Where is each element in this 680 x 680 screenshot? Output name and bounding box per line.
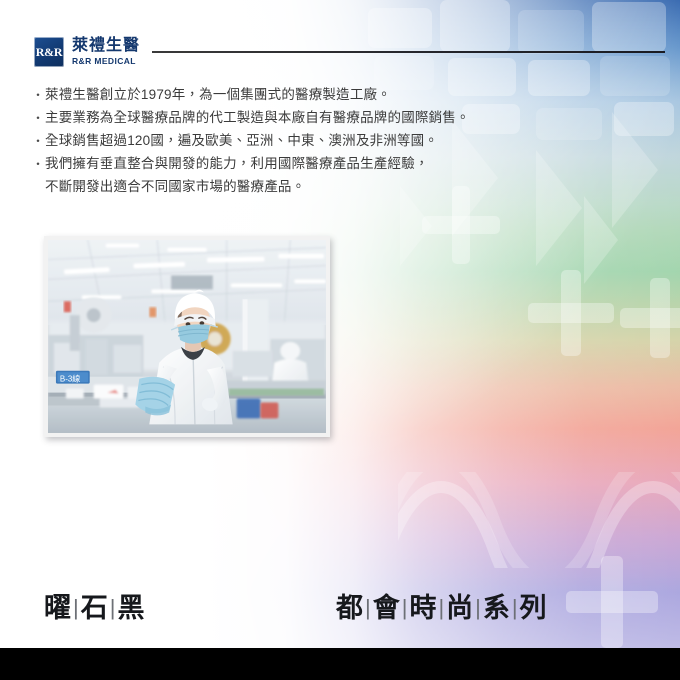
brand-name-chinese: 萊禮生醫 (72, 38, 140, 54)
caption-left-char: 黑 (117, 593, 144, 623)
bullet-marker-icon: ・ (32, 84, 45, 106)
caption-right-char: 會 (373, 593, 400, 623)
decorative-medical-cross (620, 278, 680, 358)
caption-left-char: 曜 (44, 593, 71, 623)
bullet-text: 我們擁有垂直整合與開發的能力，利用國際醫療產品生產經驗， (45, 153, 592, 175)
bullet-text: 全球銷售超過120國，遍及歐美、亞洲、中東、澳洲及非洲等國。 (45, 130, 592, 152)
rr-logo-icon: R&R (34, 37, 64, 67)
caption-right-char: 時 (409, 593, 436, 623)
caption-right-char: 尚 (446, 593, 473, 623)
bullet-text-continuation: 不斷開發出適合不同國家市場的醫療產品。 (45, 176, 592, 198)
bullet-text: 萊禮生醫創立於1979年，為一個集團式的醫療製造工廠。 (45, 84, 592, 106)
cleanroom-production-line-illustration: B-3線 (48, 240, 326, 433)
caption-separator: | (436, 595, 446, 620)
caption-left-char: 石 (81, 593, 108, 623)
brand-name-english: R&R MEDICAL (72, 57, 140, 66)
bullet-item: ・ 我們擁有垂直整合與開發的能力，利用國際醫療產品生產經驗， (32, 153, 592, 175)
decorative-rounded-rect (614, 102, 674, 136)
bullet-item: ・ 全球銷售超過120國，遍及歐美、亞洲、中東、澳洲及非洲等國。 (32, 130, 592, 152)
factory-photo: B-3線 (44, 236, 330, 437)
caption-separator: | (108, 595, 118, 620)
decorative-chevron (400, 186, 432, 266)
factory-photo-image: B-3線 (48, 240, 326, 433)
company-intro-bullets: ・ 萊禮生醫創立於1979年，為一個集團式的醫療製造工廠。 ・ 主要業務為全球醫… (32, 84, 592, 198)
header: R&R 萊禮生醫 R&R MEDICAL (34, 36, 665, 68)
bullet-marker-icon: ・ (32, 107, 45, 129)
decorative-wave-ribbon (398, 472, 680, 568)
decorative-medical-cross (566, 556, 658, 648)
bullet-marker-icon: ・ (32, 153, 45, 175)
bullet-text: 主要業務為全球醫療品牌的代工製造與本廠自有醫療品牌的國際銷售。 (45, 107, 592, 129)
caption-right-char: 系 (483, 593, 510, 623)
caption-right-char: 列 (520, 593, 547, 623)
bullet-item: ・ 主要業務為全球醫療品牌的代工製造與本廠自有醫療品牌的國際銷售。 (32, 107, 592, 129)
brand-name: 萊禮生醫 R&R MEDICAL (72, 38, 140, 66)
caption-right-char: 都 (336, 593, 363, 623)
caption-separator: | (71, 595, 81, 620)
caption-separator: | (400, 595, 410, 620)
decorative-medical-cross (528, 270, 614, 356)
bullet-marker-icon: ・ (32, 130, 45, 152)
bullet-item: ・ 萊禮生醫創立於1979年，為一個集團式的醫療製造工廠。 (32, 84, 592, 106)
caption-color-name: 曜|石|黑 (44, 595, 144, 622)
decorative-chevron (584, 196, 618, 284)
caption-series-name: 都|會|時|尚|系|列 (336, 595, 547, 622)
decorative-chevron (612, 112, 658, 228)
caption-separator: | (363, 595, 373, 620)
caption-separator: | (473, 595, 483, 620)
slide-canvas: R&R 萊禮生醫 R&R MEDICAL ・ 萊禮生醫創立於1979年，為一個集… (0, 0, 680, 680)
caption-separator: | (510, 595, 520, 620)
bottom-black-band (0, 648, 680, 680)
header-divider-line (152, 51, 665, 53)
